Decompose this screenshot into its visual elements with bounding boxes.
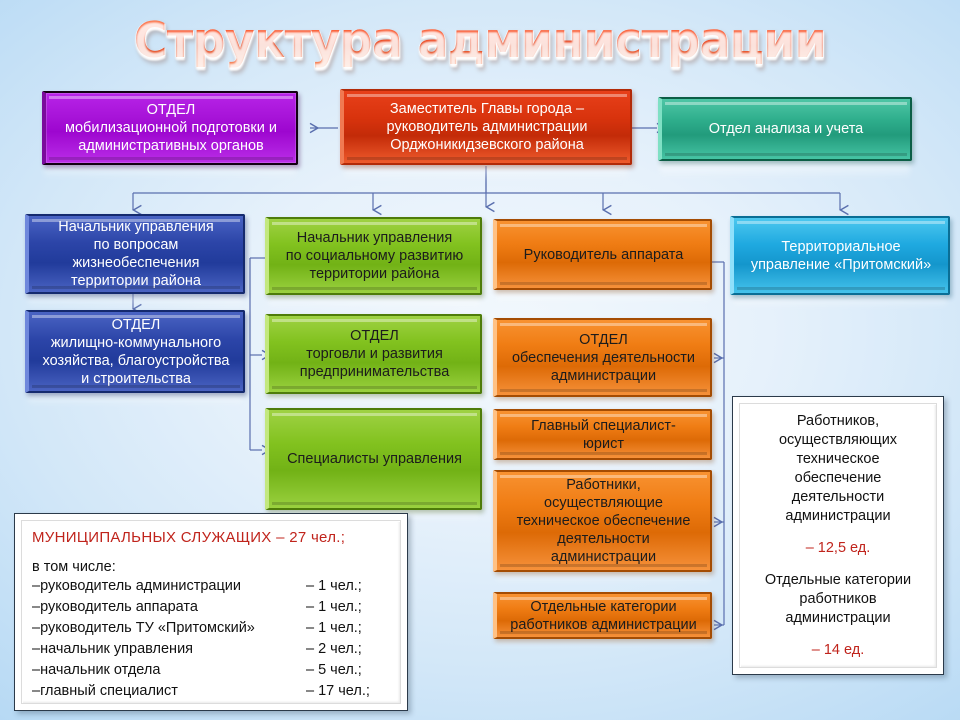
legend-row-value: – 17 чел.; [294,681,390,702]
node-label: Заместитель Главы города – руководитель … [352,100,622,154]
note-value-separate-units: – 14 ед. [750,641,926,660]
note-line-2: осуществляющих [750,431,926,450]
box-reflection [268,295,480,309]
legend-row-value: – 1 чел.; [294,576,390,597]
note-value-technical-units: – 12,5 ед. [750,539,926,558]
staff-units-note-panel: Работников, осуществляющих техническое о… [732,396,944,675]
line-2: обеспечения деятельности [512,350,695,366]
line-1: Территориальное [781,239,900,255]
line-1: Заместитель Главы города – [390,101,584,117]
legend-row: –главный специалист – 17 чел.; [32,681,390,702]
line-1: Начальник управления [58,219,213,235]
legend-row-label: –руководитель администрации [32,576,294,597]
node-label: Отдельные категории работников администр… [505,598,702,634]
legend-row-value: – 1 чел.; [294,597,390,618]
legend-row-label: –начальник управления [32,639,294,660]
line-3: техническое обеспечение [517,513,691,529]
node-chief-specialist-lawyer[interactable]: Главный специалист- юрист [493,409,712,460]
line-2: по вопросам [94,237,179,253]
page-title: Структура администрации [34,12,927,70]
line-2: юрист [583,436,624,452]
node-trade-and-business-department[interactable]: ОТДЕЛ торговли и развития предпринимател… [265,314,482,394]
legend-row-label: –руководитель аппарата [32,597,294,618]
line-2: мобилизационной подготовки и [65,120,277,136]
note-line-7: Отдельные категории [750,571,926,590]
node-deputy-head-of-city[interactable]: Заместитель Главы города – руководитель … [340,89,632,165]
legend-table: –руководитель администрации – 1 чел.; –р… [32,576,390,702]
panel-inner: МУНИЦИПАЛЬНЫХ СЛУЖАЩИХ – 27 чел.; в том … [21,520,401,704]
node-label: ОТДЕЛ обеспечения деятельности администр… [505,331,702,385]
node-chief-social-development[interactable]: Начальник управления по социальному разв… [265,217,482,295]
line-4: территории района [71,273,201,289]
box-reflection [496,570,710,584]
line-2: работников администрации [510,617,696,633]
box-reflection [733,293,947,308]
note-line-6: администрации [750,507,926,526]
line-3: Орджоникидзевского района [390,137,584,153]
note-line-4: обеспечение [750,469,926,488]
box-reflection [344,163,628,181]
node-chief-life-support[interactable]: Начальник управления по вопросам жизнеоб… [25,214,245,294]
slide-canvas: Структура администрации [0,0,960,720]
legend-subheading: в том числе: [32,559,390,575]
node-label: ОТДЕЛ жилищно-коммунального хозяйства, б… [37,316,235,388]
panel-inner: Работников, осуществляющих техническое о… [739,403,937,668]
line-3: жизнеобеспечения [72,255,199,271]
legend-row: –начальник управления – 2 чел.; [32,639,390,660]
legend-row-label: –начальник отдела [32,660,294,681]
box-reflection [28,392,242,406]
line-1: ОТДЕЛ [112,317,161,333]
box-reflection [28,293,242,307]
line-3: административных органов [78,138,264,154]
line-1: ОТДЕЛ [147,102,196,118]
line-1: Главный специалист- [531,418,676,434]
line-3: администрации [551,368,656,384]
node-label: Руководитель аппарата [505,246,702,264]
node-label: Специалисты управления [277,450,472,468]
note-line-5: деятельности [750,488,926,507]
line-2: жилищно-коммунального [51,335,221,351]
node-separate-categories-of-workers[interactable]: Отдельные категории работников администр… [493,592,712,639]
line-1: ОТДЕЛ [579,332,628,348]
legend-row-label: –главный специалист [32,681,294,702]
note-line-9: администрации [750,609,926,628]
node-technical-support-workers[interactable]: Работники, осуществляющие техническое об… [493,470,712,572]
note-line-8: работников [750,590,926,609]
node-label: Территориальное управление «Притомский» [742,238,940,274]
line-1: Работники, [566,477,641,493]
node-label: ОТДЕЛ мобилизационной подготовки и админ… [54,101,288,155]
node-analysis-and-accounting-department[interactable]: Отдел анализа и учета [658,97,912,161]
box-reflection [44,163,296,179]
node-label: Начальник управления по вопросам жизнеоб… [37,218,235,290]
node-label: Отдел анализа и учета [670,120,902,138]
node-administration-support-department[interactable]: ОТДЕЛ обеспечения деятельности администр… [493,318,712,397]
line-3: предпринимательства [300,364,450,380]
note-line-1: Работников, [750,412,926,431]
line-1: Начальник управления [297,230,452,246]
legend-row: –руководитель ТУ «Притомский» – 1 чел.; [32,618,390,639]
line-4: и строительства [81,371,191,387]
note-line-3: техническое [750,450,926,469]
legend-row: –руководитель администрации – 1 чел.; [32,576,390,597]
legend-row-value: – 1 чел.; [294,618,390,639]
box-reflection [496,396,710,410]
line-3: территории района [310,266,440,282]
node-chief-of-staff[interactable]: Руководитель аппарата [493,219,712,290]
line-2: торговли и развития [306,346,443,362]
line-4: деятельности [557,531,650,547]
node-mobilization-department[interactable]: ОТДЕЛ мобилизационной подготовки и админ… [42,91,298,165]
legend-row: –начальник отдела – 5 чел.; [32,660,390,681]
node-management-specialists[interactable]: Специалисты управления [265,408,482,510]
node-territorial-administration-pritomsky[interactable]: Территориальное управление «Притомский» [730,216,950,295]
node-label: Главный специалист- юрист [505,417,702,453]
node-label: ОТДЕЛ торговли и развития предпринимател… [277,327,472,381]
box-reflection [496,290,710,304]
legend-row: –руководитель аппарата – 1 чел.; [32,597,390,618]
line-2: руководитель администрации [387,119,588,135]
line-2: по социальному развитию [286,248,463,264]
box-reflection [660,163,910,179]
legend-heading: МУНИЦИПАЛЬНЫХ СЛУЖАЩИХ – 27 чел.; [32,529,390,546]
node-housing-utilities-department[interactable]: ОТДЕЛ жилищно-коммунального хозяйства, б… [25,310,245,393]
line-5: администрации [551,549,656,565]
legend-row-label: –руководитель ТУ «Притомский» [32,618,294,639]
legend-row-value: – 2 чел.; [294,639,390,660]
node-label: Работники, осуществляющие техническое об… [505,476,702,566]
legend-row-value: – 5 чел.; [294,660,390,681]
line-2: управление «Притомский» [751,257,931,273]
line-1: Отдельные категории [530,599,676,615]
node-label: Начальник управления по социальному разв… [277,229,472,283]
line-3: хозяйства, благоустройства [43,353,230,369]
line-2: осуществляющие [544,495,663,511]
line-1: ОТДЕЛ [350,328,399,344]
municipal-servants-legend: МУНИЦИПАЛЬНЫХ СЛУЖАЩИХ – 27 чел.; в том … [14,513,408,711]
box-reflection [268,393,480,407]
